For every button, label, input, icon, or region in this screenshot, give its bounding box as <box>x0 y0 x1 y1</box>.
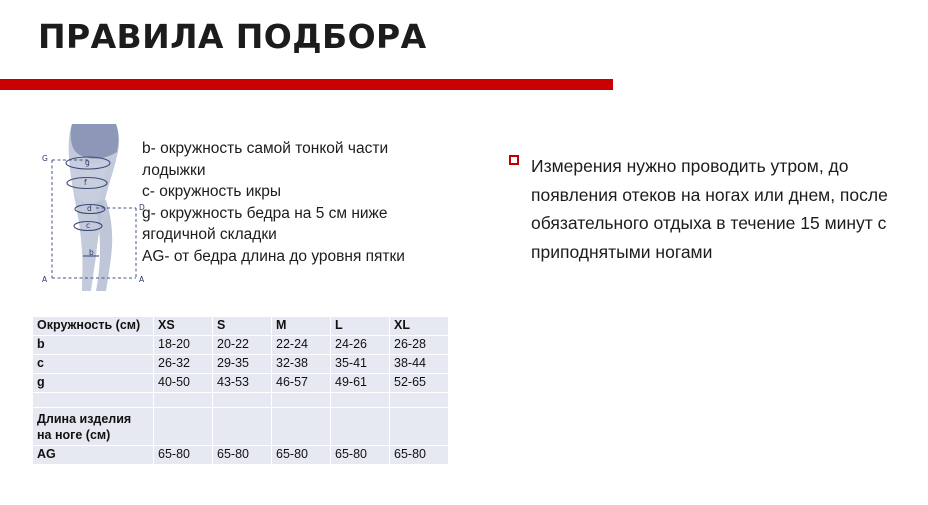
cell-b-m: 22-24 <box>272 336 330 354</box>
cell-b-s: 20-22 <box>213 336 271 354</box>
legend-line-b: b- окружность самой тонкой части лодыжки <box>142 138 442 181</box>
table-section-row: Длина изделия на ноге (см) <box>33 408 448 445</box>
svg-text:d: d <box>87 204 92 213</box>
slide-root: ПРАВИЛА ПОДБОРА <box>0 0 928 505</box>
svg-text:c: c <box>86 221 90 230</box>
measurement-note: Измерения нужно проводить утром, до появ… <box>509 152 909 266</box>
svg-text:b: b <box>89 248 94 257</box>
table-header-row: Окружность (см) XS S M L XL <box>33 317 448 335</box>
table-header-xl: XL <box>390 317 448 335</box>
legend-line-ag: AG- от бедра длина до уровня пятки <box>142 246 442 268</box>
cell-g-s: 43-53 <box>213 374 271 392</box>
cell-ag-s: 65-80 <box>213 446 271 464</box>
table-row: b 18-20 20-22 22-24 24-26 26-28 <box>33 336 448 354</box>
cell-g-xl: 52-65 <box>390 374 448 392</box>
spacer-cell <box>154 393 212 407</box>
table-header-m: M <box>272 317 330 335</box>
table-header-l: L <box>331 317 389 335</box>
spacer-cell <box>33 393 153 407</box>
section-cell-s <box>213 408 271 445</box>
svg-text:A: A <box>139 275 145 284</box>
table-header-s: S <box>213 317 271 335</box>
row-label-b: b <box>33 336 153 354</box>
table-header-measure: Окружность (см) <box>33 317 153 335</box>
spacer-cell <box>331 393 389 407</box>
svg-text:G: G <box>42 154 48 163</box>
cell-c-s: 29-35 <box>213 355 271 373</box>
note-text: Измерения нужно проводить утром, до появ… <box>531 152 909 266</box>
table-spacer-row <box>33 393 448 407</box>
table-header-xs: XS <box>154 317 212 335</box>
spacer-cell <box>213 393 271 407</box>
section-cell-xs <box>154 408 212 445</box>
table-row: c 26-32 29-35 32-38 35-41 38-44 <box>33 355 448 373</box>
row-label-ag: AG <box>33 446 153 464</box>
row-label-g: g <box>33 374 153 392</box>
cell-g-xs: 40-50 <box>154 374 212 392</box>
legend-line-c: c- окружность икры <box>142 181 442 203</box>
cell-ag-xs: 65-80 <box>154 446 212 464</box>
spacer-cell <box>272 393 330 407</box>
section-label-length: Длина изделия на ноге (см) <box>33 408 153 445</box>
section-cell-m <box>272 408 330 445</box>
red-square-bullet-icon <box>509 155 519 165</box>
row-label-c: c <box>33 355 153 373</box>
svg-text:f: f <box>84 178 87 187</box>
cell-ag-xl: 65-80 <box>390 446 448 464</box>
measurement-legend: b- окружность самой тонкой части лодыжки… <box>142 138 442 267</box>
cell-c-m: 32-38 <box>272 355 330 373</box>
table-row: AG 65-80 65-80 65-80 65-80 65-80 <box>33 446 448 464</box>
cell-c-l: 35-41 <box>331 355 389 373</box>
title-underline-bar <box>0 79 613 90</box>
leg-measurement-diagram: G g f d D c b A A <box>38 116 150 296</box>
cell-c-xs: 26-32 <box>154 355 212 373</box>
size-table: Окружность (см) XS S M L XL b 18-20 20-2… <box>32 316 449 465</box>
cell-g-m: 46-57 <box>272 374 330 392</box>
cell-b-xs: 18-20 <box>154 336 212 354</box>
section-cell-xl <box>390 408 448 445</box>
spacer-cell <box>390 393 448 407</box>
cell-c-xl: 38-44 <box>390 355 448 373</box>
svg-text:g: g <box>85 158 90 167</box>
cell-g-l: 49-61 <box>331 374 389 392</box>
table-row: g 40-50 43-53 46-57 49-61 52-65 <box>33 374 448 392</box>
legend-line-g: g- окружность бедра на 5 см ниже ягодичн… <box>142 203 442 246</box>
cell-ag-l: 65-80 <box>331 446 389 464</box>
section-cell-l <box>331 408 389 445</box>
cell-b-l: 24-26 <box>331 336 389 354</box>
page-title: ПРАВИЛА ПОДБОРА <box>38 17 427 56</box>
svg-text:A: A <box>42 275 48 284</box>
cell-b-xl: 26-28 <box>390 336 448 354</box>
cell-ag-m: 65-80 <box>272 446 330 464</box>
